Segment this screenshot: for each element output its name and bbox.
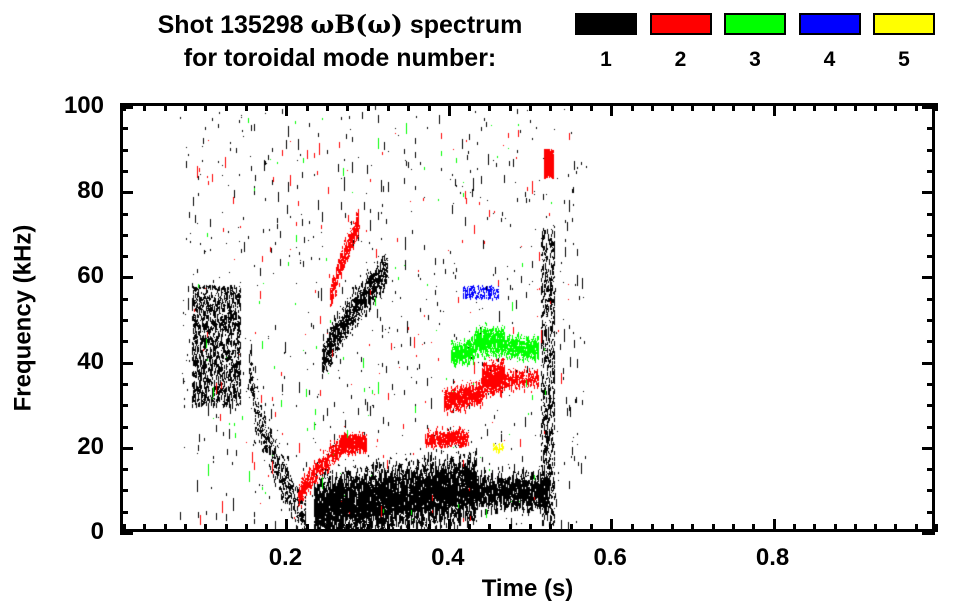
y-tick-35 <box>120 383 128 386</box>
y-tick-10 <box>120 489 128 492</box>
x-tick-0.175 <box>265 524 268 532</box>
x-tick-0.375 <box>428 524 431 532</box>
x-tick-0.75 <box>732 524 735 532</box>
y-tick-right-0 <box>922 532 935 535</box>
y-tick-right-50 <box>927 319 935 322</box>
x-tick-top-0.925 <box>874 103 877 111</box>
x-tick-0.8 <box>773 519 776 532</box>
title-line-2: for toroidal mode number: <box>115 42 565 75</box>
x-tick-0.275 <box>346 524 349 532</box>
x-tick-1 <box>935 524 938 532</box>
y-tick-right-70 <box>927 234 935 237</box>
y-tick-right-75 <box>927 213 935 216</box>
x-tick-0.7 <box>691 524 694 532</box>
legend-item-3: 3 <box>724 13 786 71</box>
legend-label-3: 3 <box>749 49 761 71</box>
x-tick-0.575 <box>590 524 593 532</box>
y-tick-right-85 <box>927 170 935 173</box>
x-tick-0.3 <box>367 524 370 532</box>
y-tick-label-80: 80 <box>77 177 104 205</box>
y-tick-right-100 <box>922 106 935 109</box>
legend: 12345 <box>575 13 935 71</box>
x-tick-0.35 <box>407 524 410 532</box>
x-axis-title: Time (s) <box>120 575 935 603</box>
y-tick-right-80 <box>922 191 935 194</box>
x-tick-label-0.8: 0.8 <box>756 544 789 572</box>
x-tick-0.4 <box>448 519 451 532</box>
x-tick-top-0.05 <box>164 103 167 111</box>
legend-item-5: 5 <box>873 13 935 71</box>
x-tick-0.85 <box>813 524 816 532</box>
x-tick-top-0.525 <box>549 103 552 111</box>
x-tick-top-0 <box>123 103 126 111</box>
legend-swatch-5 <box>873 13 935 35</box>
x-tick-0.325 <box>387 524 390 532</box>
x-tick-top-0.125 <box>225 103 228 111</box>
y-tick-right-40 <box>922 362 935 365</box>
x-tick-top-0.6 <box>610 103 613 116</box>
x-tick-0.475 <box>509 524 512 532</box>
title-line-1: Shot 135298 ωB(ω) spectrum <box>115 8 565 42</box>
x-tick-top-0.975 <box>915 103 918 111</box>
y-tick-0 <box>120 532 133 535</box>
x-tick-top-0.025 <box>143 103 146 111</box>
x-tick-top-0.35 <box>407 103 410 111</box>
y-tick-45 <box>120 340 128 343</box>
x-tick-top-0.9 <box>854 103 857 111</box>
x-tick-0.975 <box>915 524 918 532</box>
y-tick-15 <box>120 468 128 471</box>
x-tick-0.95 <box>894 524 897 532</box>
y-tick-5 <box>120 511 128 514</box>
plot-area: 0204060801000.20.40.60.8 <box>120 103 935 532</box>
y-tick-right-30 <box>927 404 935 407</box>
legend-item-2: 2 <box>650 13 712 71</box>
x-tick-top-0.425 <box>468 103 471 111</box>
x-tick-top-0.475 <box>509 103 512 111</box>
figure-title: Shot 135298 ωB(ω) spectrum for toroidal … <box>115 8 565 75</box>
legend-label-4: 4 <box>824 49 836 71</box>
x-tick-0.025 <box>143 524 146 532</box>
x-tick-top-0.875 <box>834 103 837 111</box>
y-tick-right-25 <box>927 426 935 429</box>
x-tick-0.45 <box>488 524 491 532</box>
legend-label-5: 5 <box>898 49 910 71</box>
x-tick-0.55 <box>570 524 573 532</box>
x-tick-0 <box>123 524 126 532</box>
legend-label-1: 1 <box>600 49 612 71</box>
title-line-1-pre: Shot 135298 <box>158 11 311 39</box>
y-tick-right-15 <box>927 468 935 471</box>
y-tick-75 <box>120 213 128 216</box>
x-tick-0.65 <box>651 524 654 532</box>
x-tick-0.6 <box>610 519 613 532</box>
x-tick-top-0.775 <box>752 103 755 111</box>
y-axis-title-text: Frequency (kHz) <box>9 224 37 411</box>
x-tick-top-0.725 <box>712 103 715 111</box>
x-tick-top-0.5 <box>529 103 532 111</box>
x-tick-0.5 <box>529 524 532 532</box>
x-tick-0.525 <box>549 524 552 532</box>
x-tick-0.775 <box>752 524 755 532</box>
y-tick-85 <box>120 170 128 173</box>
y-tick-90 <box>120 149 128 152</box>
x-tick-top-0.45 <box>488 103 491 111</box>
x-tick-label-0.2: 0.2 <box>269 544 302 572</box>
y-tick-right-35 <box>927 383 935 386</box>
legend-item-4: 4 <box>799 13 861 71</box>
x-tick-top-0.225 <box>306 103 309 111</box>
y-tick-label-0: 0 <box>91 518 104 546</box>
y-tick-right-45 <box>927 340 935 343</box>
x-tick-top-0.575 <box>590 103 593 111</box>
y-tick-80 <box>120 191 133 194</box>
x-tick-0.225 <box>306 524 309 532</box>
x-tick-top-0.325 <box>387 103 390 111</box>
x-tick-top-0.075 <box>184 103 187 111</box>
x-tick-0.1 <box>204 524 207 532</box>
x-tick-0.075 <box>184 524 187 532</box>
x-tick-label-0.6: 0.6 <box>594 544 627 572</box>
y-tick-right-20 <box>922 447 935 450</box>
x-tick-top-0.675 <box>671 103 674 111</box>
y-tick-right-5 <box>927 511 935 514</box>
x-tick-top-0.825 <box>793 103 796 111</box>
y-tick-30 <box>120 404 128 407</box>
x-tick-top-0.275 <box>346 103 349 111</box>
y-tick-label-20: 20 <box>77 433 104 461</box>
legend-swatch-1 <box>575 13 637 35</box>
x-tick-top-1 <box>935 103 938 111</box>
x-tick-top-0.175 <box>265 103 268 111</box>
x-tick-top-0.75 <box>732 103 735 111</box>
y-tick-40 <box>120 362 133 365</box>
legend-label-2: 2 <box>675 49 687 71</box>
x-tick-top-0.625 <box>631 103 634 111</box>
x-tick-top-0.85 <box>813 103 816 111</box>
y-tick-right-90 <box>927 149 935 152</box>
x-tick-0.25 <box>326 524 329 532</box>
y-tick-70 <box>120 234 128 237</box>
x-tick-top-0.1 <box>204 103 207 111</box>
x-tick-top-0.2 <box>285 103 288 116</box>
x-tick-top-0.8 <box>773 103 776 116</box>
x-tick-0.125 <box>225 524 228 532</box>
y-tick-right-95 <box>927 127 935 130</box>
legend-item-1: 1 <box>575 13 637 71</box>
axis-frame <box>120 103 935 532</box>
x-tick-0.625 <box>631 524 634 532</box>
y-tick-60 <box>120 276 133 279</box>
y-tick-label-40: 40 <box>77 348 104 376</box>
x-tick-0.925 <box>874 524 877 532</box>
x-tick-0.2 <box>285 519 288 532</box>
y-tick-65 <box>120 255 128 258</box>
x-tick-top-0.25 <box>326 103 329 111</box>
spectrogram-figure: Shot 135298 ωB(ω) spectrum for toroidal … <box>0 0 963 615</box>
legend-swatch-3 <box>724 13 786 35</box>
legend-swatch-4 <box>799 13 861 35</box>
title-line-1-post: spectrum <box>403 11 522 39</box>
x-tick-0.425 <box>468 524 471 532</box>
y-tick-25 <box>120 426 128 429</box>
x-tick-top-0.375 <box>428 103 431 111</box>
x-tick-top-0.3 <box>367 103 370 111</box>
y-tick-100 <box>120 106 133 109</box>
x-tick-0.15 <box>245 524 248 532</box>
x-tick-top-0.7 <box>691 103 694 111</box>
y-tick-right-10 <box>927 489 935 492</box>
x-tick-0.9 <box>854 524 857 532</box>
x-tick-top-0.55 <box>570 103 573 111</box>
y-tick-label-100: 100 <box>64 92 104 120</box>
x-tick-0.725 <box>712 524 715 532</box>
y-tick-95 <box>120 127 128 130</box>
y-axis-title: Frequency (kHz) <box>8 103 38 532</box>
x-tick-0.05 <box>164 524 167 532</box>
x-tick-top-0.65 <box>651 103 654 111</box>
x-tick-0.675 <box>671 524 674 532</box>
x-tick-top-0.15 <box>245 103 248 111</box>
y-tick-label-60: 60 <box>77 262 104 290</box>
y-tick-20 <box>120 447 133 450</box>
x-tick-0.825 <box>793 524 796 532</box>
y-tick-50 <box>120 319 128 322</box>
x-tick-label-0.4: 0.4 <box>431 544 464 572</box>
y-tick-55 <box>120 298 128 301</box>
x-tick-top-0.95 <box>894 103 897 111</box>
omega-b-omega-symbol: ωB(ω) <box>310 10 402 39</box>
y-tick-right-55 <box>927 298 935 301</box>
y-tick-right-65 <box>927 255 935 258</box>
y-tick-right-60 <box>922 276 935 279</box>
x-tick-top-0.4 <box>448 103 451 116</box>
x-tick-0.875 <box>834 524 837 532</box>
legend-swatch-2 <box>650 13 712 35</box>
